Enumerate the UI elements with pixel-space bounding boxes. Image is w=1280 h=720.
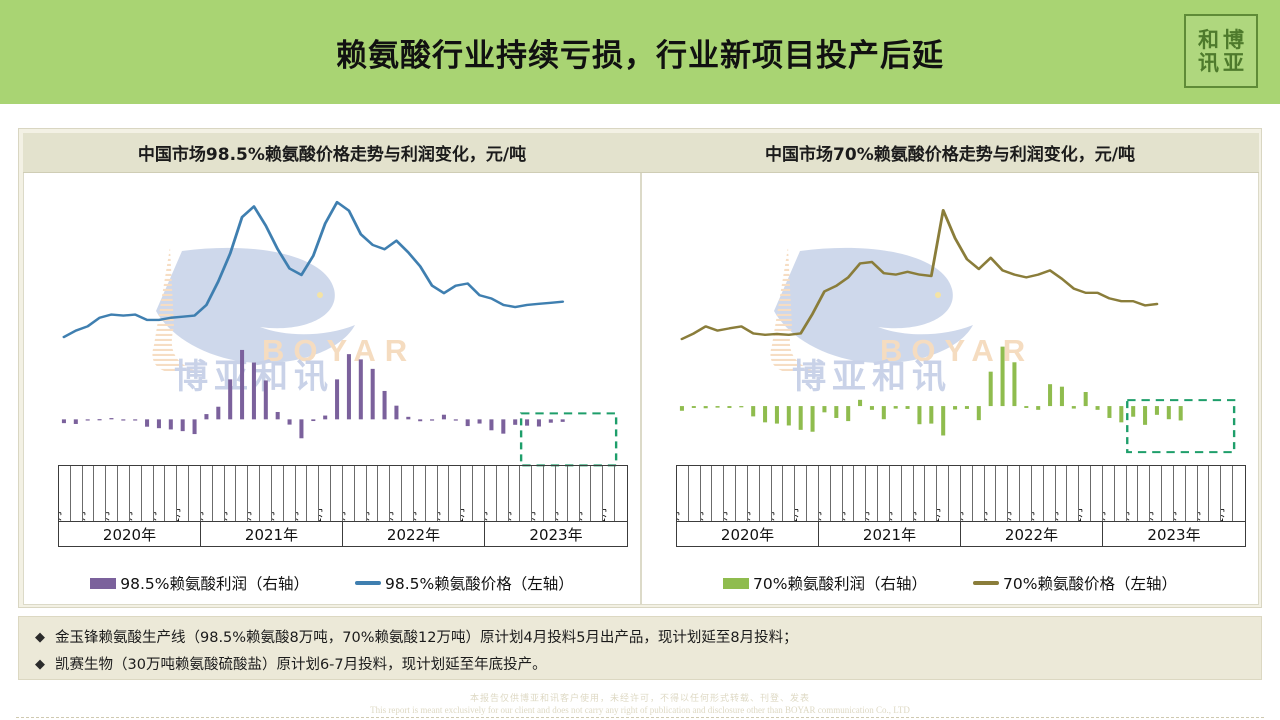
month-tick	[878, 466, 890, 521]
logo-char-he: 和	[1198, 29, 1219, 50]
month-tick	[142, 466, 154, 521]
logo-char-bo: 博	[1223, 29, 1244, 50]
bar	[371, 369, 375, 419]
year-label: 2021年	[819, 522, 961, 546]
chart-985-axis: 1月3月5月7月9月11月1月3月5月7月9月11月1月3月5月7月9月11月1…	[58, 465, 628, 547]
month-tick	[615, 466, 627, 521]
boyar-logo-stamp: 和 讯 博 亚	[1184, 14, 1258, 88]
month-tick: 7月	[556, 466, 568, 521]
bar	[193, 419, 197, 434]
year-label: 2022年	[343, 522, 485, 546]
month-tick: 1月	[201, 466, 213, 521]
month-tick-label: 3月	[225, 510, 230, 521]
month-tick	[402, 466, 414, 521]
month-tick-label: 7月	[414, 510, 419, 521]
note-text-2: 凯赛生物（30万吨赖氨酸硫酸盐）原计划6-7月投料，现计划延至年底投产。	[55, 653, 547, 674]
bar	[834, 406, 838, 418]
month-tick-label: 9月	[914, 510, 919, 521]
month-tick: 9月	[772, 466, 784, 521]
month-tick	[1233, 466, 1245, 521]
month-tick: 5月	[532, 466, 544, 521]
legend-label-profit: 70%赖氨酸利润（右轴）	[753, 572, 927, 594]
charts-panel: 中国市场98.5%赖氨酸价格走势与利润变化，元/吨 BOYAR 博亚和讯	[18, 128, 1262, 608]
month-tick: 9月	[914, 466, 926, 521]
legend-item-price[interactable]: 70%赖氨酸价格（左轴）	[973, 572, 1177, 594]
month-tick-label: 1月	[1103, 510, 1108, 521]
chart-70-plot	[676, 181, 1246, 463]
chart-985-title: 中国市场98.5%赖氨酸价格走势与利润变化，元/吨	[23, 133, 641, 173]
bar	[1131, 406, 1135, 417]
bar	[989, 372, 993, 406]
month-tick-row: 1月3月5月7月9月11月1月3月5月7月9月11月1月3月5月7月9月11月1…	[676, 465, 1246, 521]
year-label: 2022年	[961, 522, 1103, 546]
month-tick-label: 3月	[985, 510, 990, 521]
bar	[335, 379, 339, 419]
bar	[561, 419, 565, 422]
month-tick: 7月	[748, 466, 760, 521]
chart-985-body: BOYAR 博亚和讯 1月3月5月7月9月11月1月3月5月7月9月11月1月3…	[23, 173, 641, 605]
bar	[799, 406, 803, 430]
bar	[430, 419, 434, 420]
month-tick: 9月	[438, 466, 450, 521]
month-tick-label: 11月	[319, 507, 324, 521]
month-tick	[689, 466, 701, 521]
bar	[1155, 406, 1159, 415]
price-line	[64, 202, 563, 337]
bar	[478, 419, 482, 423]
bar	[1084, 392, 1088, 406]
month-tick-label: 1月	[343, 510, 348, 521]
bar	[418, 419, 422, 421]
chart-70-legend: 70%赖氨酸利润（右轴） 70%赖氨酸价格（左轴）	[642, 568, 1258, 598]
month-tick-label: 3月	[509, 510, 514, 521]
month-tick	[260, 466, 272, 521]
bar	[1048, 384, 1052, 406]
bar	[181, 419, 185, 431]
bar	[466, 419, 470, 426]
month-tick: 11月	[795, 466, 807, 521]
month-tick	[831, 466, 843, 521]
month-tick: 7月	[1174, 466, 1186, 521]
bar	[311, 419, 315, 421]
chart-70-container: 中国市场70%赖氨酸价格走势与利润变化，元/吨 BOYAR 博亚和讯	[641, 133, 1259, 605]
bar	[121, 419, 125, 420]
month-tick-label: 11月	[603, 507, 608, 521]
month-tick	[331, 466, 343, 521]
month-tick	[426, 466, 438, 521]
bar	[109, 418, 113, 419]
month-tick: 5月	[1150, 466, 1162, 521]
bar	[882, 406, 886, 419]
month-tick: 7月	[130, 466, 142, 521]
bar	[751, 406, 755, 416]
highlight-box	[521, 413, 616, 465]
legend-label-price: 70%赖氨酸价格（左轴）	[1003, 572, 1177, 594]
bar	[347, 354, 351, 419]
month-tick-label: 11月	[461, 507, 466, 521]
month-tick	[544, 466, 556, 521]
bar	[383, 391, 387, 419]
bar	[929, 406, 933, 424]
month-tick: 7月	[272, 466, 284, 521]
month-tick-label: 1月	[201, 510, 206, 521]
bar	[216, 407, 220, 420]
month-tick-label: 5月	[390, 510, 395, 521]
bar	[680, 406, 684, 411]
price-line	[682, 210, 1157, 339]
month-tick	[1162, 466, 1174, 521]
bar	[704, 406, 708, 408]
month-tick: 1月	[677, 466, 689, 521]
month-tick: 1月	[343, 466, 355, 521]
month-tick-label: 9月	[580, 510, 585, 521]
bar	[906, 406, 910, 409]
bar	[763, 406, 767, 422]
month-tick: 9月	[1056, 466, 1068, 521]
month-tick-label: 3月	[367, 510, 372, 521]
month-tick	[902, 466, 914, 521]
month-tick	[783, 466, 795, 521]
bar	[941, 406, 945, 435]
note-text-1: 金玉锋赖氨酸生产线（98.5%赖氨酸8万吨，70%赖氨酸12万吨）原计划4月投料…	[55, 626, 798, 647]
bar	[525, 419, 529, 425]
month-tick	[712, 466, 724, 521]
bar	[1001, 347, 1005, 406]
month-tick	[165, 466, 177, 521]
month-tick: 11月	[603, 466, 615, 521]
month-tick: 3月	[985, 466, 997, 521]
year-label: 2023年	[1103, 522, 1245, 546]
month-tick-label: 11月	[1221, 507, 1226, 521]
bar	[1024, 406, 1028, 408]
month-tick: 5月	[106, 466, 118, 521]
bar	[323, 416, 327, 420]
month-tick	[807, 466, 819, 521]
year-label: 2020年	[59, 522, 201, 546]
bar	[98, 419, 102, 420]
month-tick-label: 11月	[1079, 507, 1084, 521]
month-tick: 11月	[177, 466, 189, 521]
month-tick-label: 1月	[485, 510, 490, 521]
month-tick: 3月	[843, 466, 855, 521]
bar	[894, 406, 898, 409]
month-tick: 11月	[1079, 466, 1091, 521]
month-tick-label: 11月	[937, 507, 942, 521]
month-tick: 9月	[580, 466, 592, 521]
footer-disclaimer-en: This report is meant exclusively for our…	[0, 704, 1280, 716]
month-tick-label: 9月	[438, 510, 443, 521]
month-tick	[378, 466, 390, 521]
bar	[252, 363, 256, 420]
year-label-row: 2020年2021年2022年2023年	[676, 521, 1246, 547]
bar	[1012, 362, 1016, 406]
month-tick: 5月	[390, 466, 402, 521]
legend-item-profit[interactable]: 70%赖氨酸利润（右轴）	[723, 572, 927, 594]
month-tick: 9月	[154, 466, 166, 521]
bar	[953, 406, 957, 409]
logo-char-ya: 亚	[1223, 52, 1244, 73]
chart-985-container: 中国市场98.5%赖氨酸价格走势与利润变化，元/吨 BOYAR 博亚和讯	[23, 133, 641, 605]
month-tick: 5月	[248, 466, 260, 521]
legend-label-price: 98.5%赖氨酸价格（左轴）	[385, 572, 574, 594]
bar	[74, 419, 78, 424]
bar	[846, 406, 850, 421]
month-tick	[355, 466, 367, 521]
bar	[965, 406, 969, 409]
month-tick: 7月	[890, 466, 902, 521]
month-tick-label: 5月	[1150, 510, 1155, 521]
month-tick: 7月	[1032, 466, 1044, 521]
month-tick-label: 3月	[843, 510, 848, 521]
month-tick-label: 7月	[1174, 510, 1179, 521]
month-tick-label: 5月	[248, 510, 253, 521]
bar	[276, 412, 280, 419]
bar	[917, 406, 921, 424]
diamond-bullet-icon: ◆	[35, 629, 45, 645]
bar	[228, 379, 232, 419]
month-tick-label: 9月	[296, 510, 301, 521]
month-tick-label: 5月	[866, 510, 871, 521]
bar	[787, 406, 791, 425]
month-tick	[996, 466, 1008, 521]
month-tick	[1067, 466, 1079, 521]
month-tick	[213, 466, 225, 521]
month-tick: 5月	[1008, 466, 1020, 521]
month-tick: 11月	[319, 466, 331, 521]
month-tick-label: 11月	[795, 507, 800, 521]
legend-swatch-bar	[90, 578, 116, 589]
month-tick	[71, 466, 83, 521]
month-tick-label: 5月	[106, 510, 111, 521]
month-tick-label: 3月	[701, 510, 706, 521]
month-tick	[497, 466, 509, 521]
bar	[288, 419, 292, 424]
month-tick: 1月	[819, 466, 831, 521]
month-tick	[568, 466, 580, 521]
month-tick	[94, 466, 106, 521]
month-tick: 3月	[83, 466, 95, 521]
bar	[86, 419, 90, 420]
month-tick	[925, 466, 937, 521]
month-tick: 11月	[937, 466, 949, 521]
bar	[1119, 406, 1123, 422]
month-tick-label: 1月	[59, 510, 64, 521]
legend-swatch-line	[355, 581, 381, 585]
bar	[442, 415, 446, 420]
month-tick	[1020, 466, 1032, 521]
bar	[811, 406, 815, 432]
month-tick-label: 9月	[1056, 510, 1061, 521]
month-tick: 3月	[509, 466, 521, 521]
bar	[739, 406, 743, 407]
bar	[1107, 406, 1111, 418]
month-tick	[1138, 466, 1150, 521]
bar	[359, 359, 363, 419]
bar	[727, 406, 731, 408]
footer-disclaimer: 本报告仅供博亚和讯客户使用，未经许可，不得以任何形式转载、刊登、发表 This …	[0, 692, 1280, 716]
bar	[1179, 406, 1183, 420]
bar	[977, 406, 981, 420]
legend-label-profit: 98.5%赖氨酸利润（右轴）	[120, 572, 309, 594]
legend-item-price[interactable]: 98.5%赖氨酸价格（左轴）	[355, 572, 574, 594]
bar	[822, 406, 826, 412]
bar	[1096, 406, 1100, 410]
chart-985-legend: 98.5%赖氨酸利润（右轴） 98.5%赖氨酸价格（左轴）	[24, 568, 640, 598]
month-tick: 1月	[1103, 466, 1115, 521]
month-tick: 1月	[485, 466, 497, 521]
month-tick-label: 7月	[890, 510, 895, 521]
month-tick	[236, 466, 248, 521]
note-item: ◆ 金玉锋赖氨酸生产线（98.5%赖氨酸8万吨，70%赖氨酸12万吨）原计划4月…	[35, 625, 1245, 648]
month-tick	[760, 466, 772, 521]
month-tick	[189, 466, 201, 521]
legend-swatch-line	[973, 581, 999, 585]
logo-char-xun: 讯	[1198, 52, 1219, 73]
month-tick	[473, 466, 485, 521]
bar	[1036, 406, 1040, 410]
month-tick: 5月	[724, 466, 736, 521]
bar	[513, 419, 517, 424]
bar	[501, 419, 505, 433]
month-tick-label: 5月	[532, 510, 537, 521]
bar	[870, 406, 874, 410]
month-tick: 3月	[701, 466, 713, 521]
year-label-row: 2020年2021年2022年2023年	[58, 521, 628, 547]
bar	[204, 414, 208, 419]
month-tick: 1月	[59, 466, 71, 521]
month-tick: 9月	[1198, 466, 1210, 521]
month-tick	[1091, 466, 1103, 521]
month-tick-label: 5月	[1008, 510, 1013, 521]
month-tick-label: 7月	[556, 510, 561, 521]
bar	[133, 419, 137, 420]
month-tick	[449, 466, 461, 521]
bar	[692, 406, 696, 408]
month-tick-label: 5月	[724, 510, 729, 521]
month-tick	[591, 466, 603, 521]
bar	[489, 419, 493, 430]
bar	[858, 400, 862, 406]
chart-70-title: 中国市场70%赖氨酸价格走势与利润变化，元/吨	[641, 133, 1259, 173]
month-tick: 7月	[414, 466, 426, 521]
year-label: 2020年	[677, 522, 819, 546]
month-tick-label: 9月	[1198, 510, 1203, 521]
month-tick: 3月	[225, 466, 237, 521]
legend-swatch-bar	[723, 578, 749, 589]
footer-divider	[16, 717, 1264, 718]
chart-70-axis: 1月3月5月7月9月11月1月3月5月7月9月11月1月3月5月7月9月11月1…	[676, 465, 1246, 547]
month-tick	[1209, 466, 1221, 521]
month-tick-label: 11月	[177, 507, 182, 521]
month-tick-label: 7月	[1032, 510, 1037, 521]
month-tick: 3月	[1127, 466, 1139, 521]
bar	[537, 419, 541, 426]
note-item: ◆ 凯赛生物（30万吨赖氨酸硫酸盐）原计划6-7月投料，现计划延至年底投产。	[35, 652, 1245, 675]
bar	[240, 350, 244, 419]
month-tick: 5月	[866, 466, 878, 521]
chart-70-body: BOYAR 博亚和讯 1月3月5月7月9月11月1月3月5月7月9月11月1月3…	[641, 173, 1259, 605]
bar	[1167, 406, 1171, 419]
bar	[775, 406, 779, 424]
notes-box: ◆ 金玉锋赖氨酸生产线（98.5%赖氨酸8万吨，70%赖氨酸12万吨）原计划4月…	[18, 616, 1262, 680]
month-tick-row: 1月3月5月7月9月11月1月3月5月7月9月11月1月3月5月7月9月11月1…	[58, 465, 628, 521]
month-tick-label: 1月	[677, 510, 682, 521]
month-tick-label: 9月	[772, 510, 777, 521]
month-tick	[1115, 466, 1127, 521]
month-tick: 11月	[461, 466, 473, 521]
bar	[145, 419, 149, 426]
month-tick-label: 3月	[1127, 510, 1132, 521]
footer-disclaimer-cn: 本报告仅供博亚和讯客户使用，未经许可，不得以任何形式转载、刊登、发表	[0, 692, 1280, 704]
bar	[1072, 406, 1076, 409]
month-tick: 1月	[961, 466, 973, 521]
month-tick: 11月	[1221, 466, 1233, 521]
month-tick	[284, 466, 296, 521]
page-title: 赖氨酸行业持续亏损，行业新项目投产后延	[0, 0, 1280, 104]
month-tick-label: 7月	[130, 510, 135, 521]
month-tick	[118, 466, 130, 521]
bar	[454, 419, 458, 420]
month-tick	[1044, 466, 1056, 521]
bar	[1060, 387, 1064, 406]
bar	[157, 419, 161, 428]
year-label: 2023年	[485, 522, 627, 546]
month-tick: 9月	[296, 466, 308, 521]
month-tick-label: 1月	[819, 510, 824, 521]
month-tick: 3月	[367, 466, 379, 521]
bar	[62, 419, 66, 423]
month-tick	[520, 466, 532, 521]
bar	[716, 406, 720, 408]
month-tick	[973, 466, 985, 521]
month-tick	[1186, 466, 1198, 521]
bar	[406, 417, 410, 420]
bar	[1143, 406, 1147, 425]
diamond-bullet-icon: ◆	[35, 656, 45, 672]
bar	[169, 419, 173, 429]
bar	[394, 406, 398, 420]
month-tick-label: 7月	[748, 510, 753, 521]
month-tick-label: 7月	[272, 510, 277, 521]
bar	[299, 419, 303, 438]
bar	[264, 380, 268, 419]
bar	[549, 419, 553, 422]
month-tick	[949, 466, 961, 521]
slide-root: 赖氨酸行业持续亏损，行业新项目投产后延 和 讯 博 亚 中国市场98.5%赖氨酸…	[0, 0, 1280, 720]
month-tick-label: 1月	[961, 510, 966, 521]
legend-item-profit[interactable]: 98.5%赖氨酸利润（右轴）	[90, 572, 309, 594]
month-tick	[307, 466, 319, 521]
month-tick-label: 9月	[154, 510, 159, 521]
month-tick-label: 3月	[83, 510, 88, 521]
year-label: 2021年	[201, 522, 343, 546]
month-tick	[854, 466, 866, 521]
month-tick	[736, 466, 748, 521]
chart-985-plot	[58, 181, 628, 463]
